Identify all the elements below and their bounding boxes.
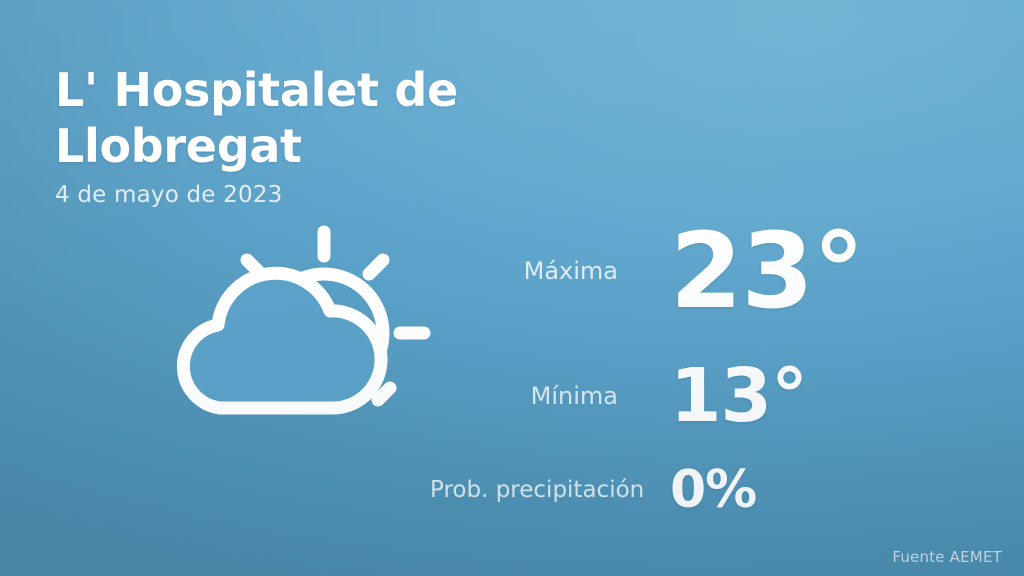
page-title: L' Hospitalet de Llobregat bbox=[55, 62, 675, 174]
location-header: L' Hospitalet de Llobregat 4 de mayo de … bbox=[55, 62, 675, 209]
partly-cloudy-sun-icon bbox=[150, 218, 440, 433]
weather-card: L' Hospitalet de Llobregat 4 de mayo de … bbox=[0, 0, 1024, 576]
reading-label-minima: Mínima bbox=[430, 382, 670, 410]
reading-row-precipitation: Prob. precipitación 0% bbox=[430, 455, 950, 525]
reading-value-precipitation: 0% bbox=[670, 464, 756, 516]
reading-row-maxima: Máxima 23° bbox=[430, 205, 950, 337]
reading-label-precipitation: Prob. precipitación bbox=[430, 477, 670, 503]
reading-label-maxima: Máxima bbox=[430, 257, 670, 285]
source-credit: Fuente AEMET bbox=[892, 548, 1002, 566]
reading-value-maxima: 23° bbox=[670, 219, 864, 323]
reading-value-minima: 13° bbox=[670, 359, 807, 433]
reading-row-minima: Mínima 13° bbox=[430, 337, 950, 455]
readings-list: Máxima 23° Mínima 13° Prob. precipitació… bbox=[430, 205, 950, 525]
